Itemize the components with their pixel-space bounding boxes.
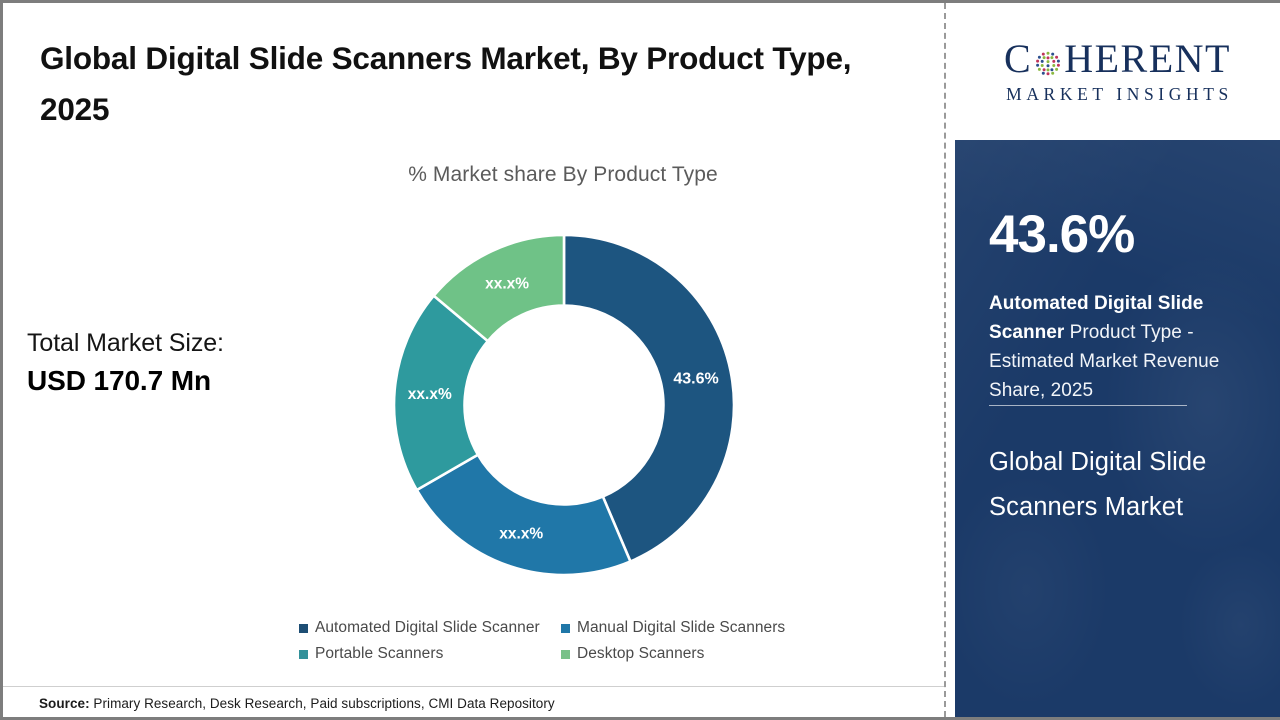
logo-wordmark: C [1002,39,1233,79]
source-text: Primary Research, Desk Research, Paid su… [90,696,555,711]
donut-slice-label: xx.x% [485,275,529,292]
legend-swatch-icon [561,624,570,633]
source-divider [3,686,944,687]
panel-rule-divider [989,405,1187,406]
total-market-size-label: Total Market Size: [27,325,327,361]
donut-chart-svg: 43.6%xx.x%xx.x%xx.x% [388,225,740,585]
logo-letter-c: C [1004,39,1032,79]
legend-swatch-icon [299,650,308,659]
donut-slice-label: xx.x% [408,386,452,403]
legend-label: Desktop Scanners [577,645,704,663]
coherent-market-insights-logo: C [1002,39,1233,104]
legend-row: Portable Scanners Desktop Scanners [299,645,829,663]
globe-dots-icon [1033,46,1063,76]
total-market-size-block: Total Market Size: USD 170.7 Mn [27,325,327,400]
market-name: Global Digital Slide Scanners Market [989,440,1229,531]
vertical-dashed-divider [944,3,946,717]
right-panel: C [955,3,1280,717]
highlight-description: Automated Digital Slide Scanner Product … [989,290,1239,406]
legend-swatch-icon [561,650,570,659]
source-line: Source: Primary Research, Desk Research,… [39,696,555,711]
chart-subtitle: % Market share By Product Type [313,163,813,187]
donut-slice-label: xx.x% [499,525,543,542]
highlight-percentage: 43.6% [989,208,1134,261]
chart-legend: Automated Digital Slide Scanner Manual D… [299,619,829,671]
legend-label: Manual Digital Slide Scanners [577,619,785,637]
legend-row: Automated Digital Slide Scanner Manual D… [299,619,829,637]
legend-label: Automated Digital Slide Scanner [315,619,540,637]
brand-logo-area: C [955,3,1280,140]
highlight-panel: 43.6% Automated Digital Slide Scanner Pr… [955,140,1280,717]
infographic-page: Global Digital Slide Scanners Market, By… [0,0,1280,720]
legend-swatch-icon [299,624,308,633]
logo-subtitle: MARKET INSIGHTS [1002,86,1233,104]
source-prefix: Source: [39,696,90,711]
total-market-size-value: USD 170.7 Mn [27,361,327,400]
legend-item-manual-digital-slide-scanners[interactable]: Manual Digital Slide Scanners [561,619,785,637]
legend-item-portable-scanners[interactable]: Portable Scanners [299,645,561,663]
legend-label: Portable Scanners [315,645,443,663]
donut-chart: 43.6%xx.x%xx.x%xx.x% [388,225,740,585]
legend-item-automated-digital-slide-scanner[interactable]: Automated Digital Slide Scanner [299,619,561,637]
page-title: Global Digital Slide Scanners Market, By… [40,33,920,135]
left-content-pane: Global Digital Slide Scanners Market, By… [3,3,944,717]
legend-item-desktop-scanners[interactable]: Desktop Scanners [561,645,704,663]
donut-slice-label: 43.6% [673,371,718,388]
logo-letters-herent: HERENT [1064,39,1231,79]
